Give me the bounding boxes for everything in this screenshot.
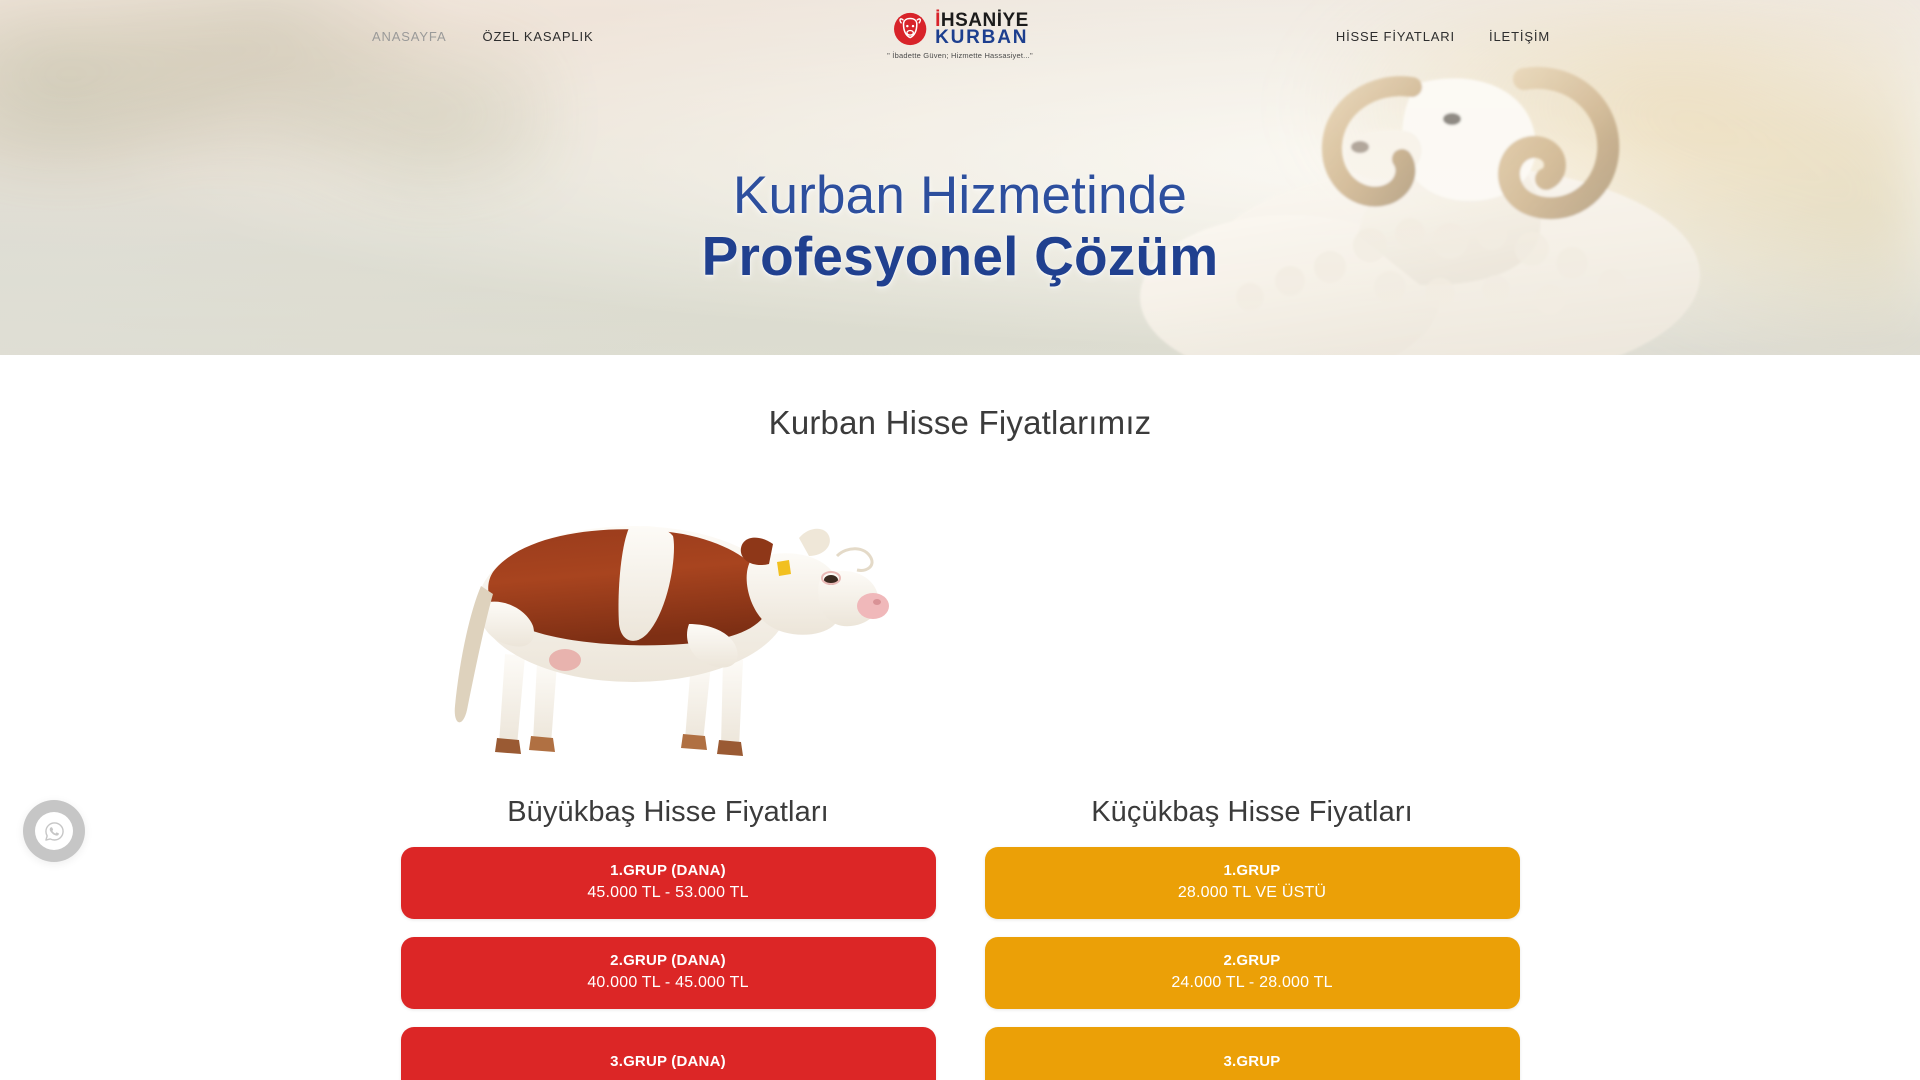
site-header: ANASAYFA ÖZEL KASAPLIK bbox=[0, 0, 1920, 78]
simmental-bull-photo bbox=[401, 474, 936, 774]
bull-head-icon bbox=[891, 10, 929, 48]
price-card[interactable]: 2.GRUP 24.000 TL - 28.000 TL bbox=[985, 937, 1520, 1009]
prices-section: Kurban Hisse Fiyatlarımız bbox=[0, 355, 1920, 1080]
nav-anasayfa[interactable]: ANASAYFA bbox=[372, 30, 446, 43]
site-logo[interactable]: İHSANİYE KURBAN " İbadette Güven; Hizmet… bbox=[887, 10, 1033, 60]
nav-iletisim[interactable]: İLETİŞİM bbox=[1489, 30, 1550, 43]
primary-nav-right: HİSSE FİYATLARI İLETİŞİM bbox=[1336, 30, 1550, 43]
price-card-name: 1.GRUP bbox=[1223, 862, 1280, 881]
price-card-name: 1.GRUP (DANA) bbox=[610, 862, 726, 881]
hero-title-line-1: Kurban Hizmetinde bbox=[0, 168, 1920, 224]
hero-heading: Kurban Hizmetinde Profesyonel Çözüm bbox=[0, 168, 1920, 288]
logo-word-bottom: KURBAN bbox=[935, 29, 1029, 46]
price-card-value: 24.000 TL - 28.000 TL bbox=[1171, 973, 1332, 994]
price-columns: Büyükbaş Hisse Fiyatları 1.GRUP (DANA) 4… bbox=[0, 474, 1920, 1080]
price-card[interactable]: 2.GRUP (DANA) 40.000 TL - 45.000 TL bbox=[401, 937, 936, 1009]
price-card-name: 2.GRUP (DANA) bbox=[610, 952, 726, 971]
price-card[interactable]: 3.GRUP bbox=[985, 1027, 1520, 1080]
primary-nav-left: ANASAYFA ÖZEL KASAPLIK bbox=[372, 30, 594, 43]
nav-hisse-fiyatlari[interactable]: HİSSE FİYATLARI bbox=[1336, 30, 1455, 43]
buyukbas-title: Büyükbaş Hisse Fiyatları bbox=[401, 796, 936, 829]
buyukbas-column: Büyükbaş Hisse Fiyatları 1.GRUP (DANA) 4… bbox=[401, 474, 936, 1080]
price-card-name: 3.GRUP (DANA) bbox=[610, 1053, 726, 1072]
price-card-value: 40.000 TL - 45.000 TL bbox=[587, 973, 748, 994]
price-card[interactable]: 3.GRUP (DANA) bbox=[401, 1027, 936, 1080]
nav-ozel-kasaplik[interactable]: ÖZEL KASAPLIK bbox=[482, 30, 593, 43]
hero-title-line-2: Profesyonel Çözüm bbox=[0, 226, 1920, 288]
kucukbas-title: Küçükbaş Hisse Fiyatları bbox=[985, 796, 1520, 829]
kucukbas-column: Küçükbaş Hisse Fiyatları 1.GRUP 28.000 T… bbox=[985, 474, 1520, 1080]
logo-wordmark: İHSANİYE KURBAN bbox=[935, 12, 1029, 47]
logo-tagline: " İbadette Güven; Hizmette Hassasiyet...… bbox=[887, 51, 1033, 60]
whatsapp-float-button[interactable] bbox=[23, 800, 85, 862]
page-title: Kurban Hisse Fiyatlarımız bbox=[0, 355, 1920, 442]
price-card-value: 45.000 TL - 53.000 TL bbox=[587, 883, 748, 904]
whatsapp-icon bbox=[35, 812, 73, 850]
price-card[interactable]: 1.GRUP 28.000 TL VE ÜSTÜ bbox=[985, 847, 1520, 919]
logo-lockup: İHSANİYE KURBAN bbox=[891, 10, 1029, 48]
price-card-value: 28.000 TL VE ÜSTÜ bbox=[1178, 883, 1326, 904]
price-card-name: 2.GRUP bbox=[1223, 952, 1280, 971]
price-card[interactable]: 1.GRUP (DANA) 45.000 TL - 53.000 TL bbox=[401, 847, 936, 919]
price-card-name: 3.GRUP bbox=[1223, 1053, 1280, 1072]
hero-section: ANASAYFA ÖZEL KASAPLIK bbox=[0, 0, 1920, 355]
